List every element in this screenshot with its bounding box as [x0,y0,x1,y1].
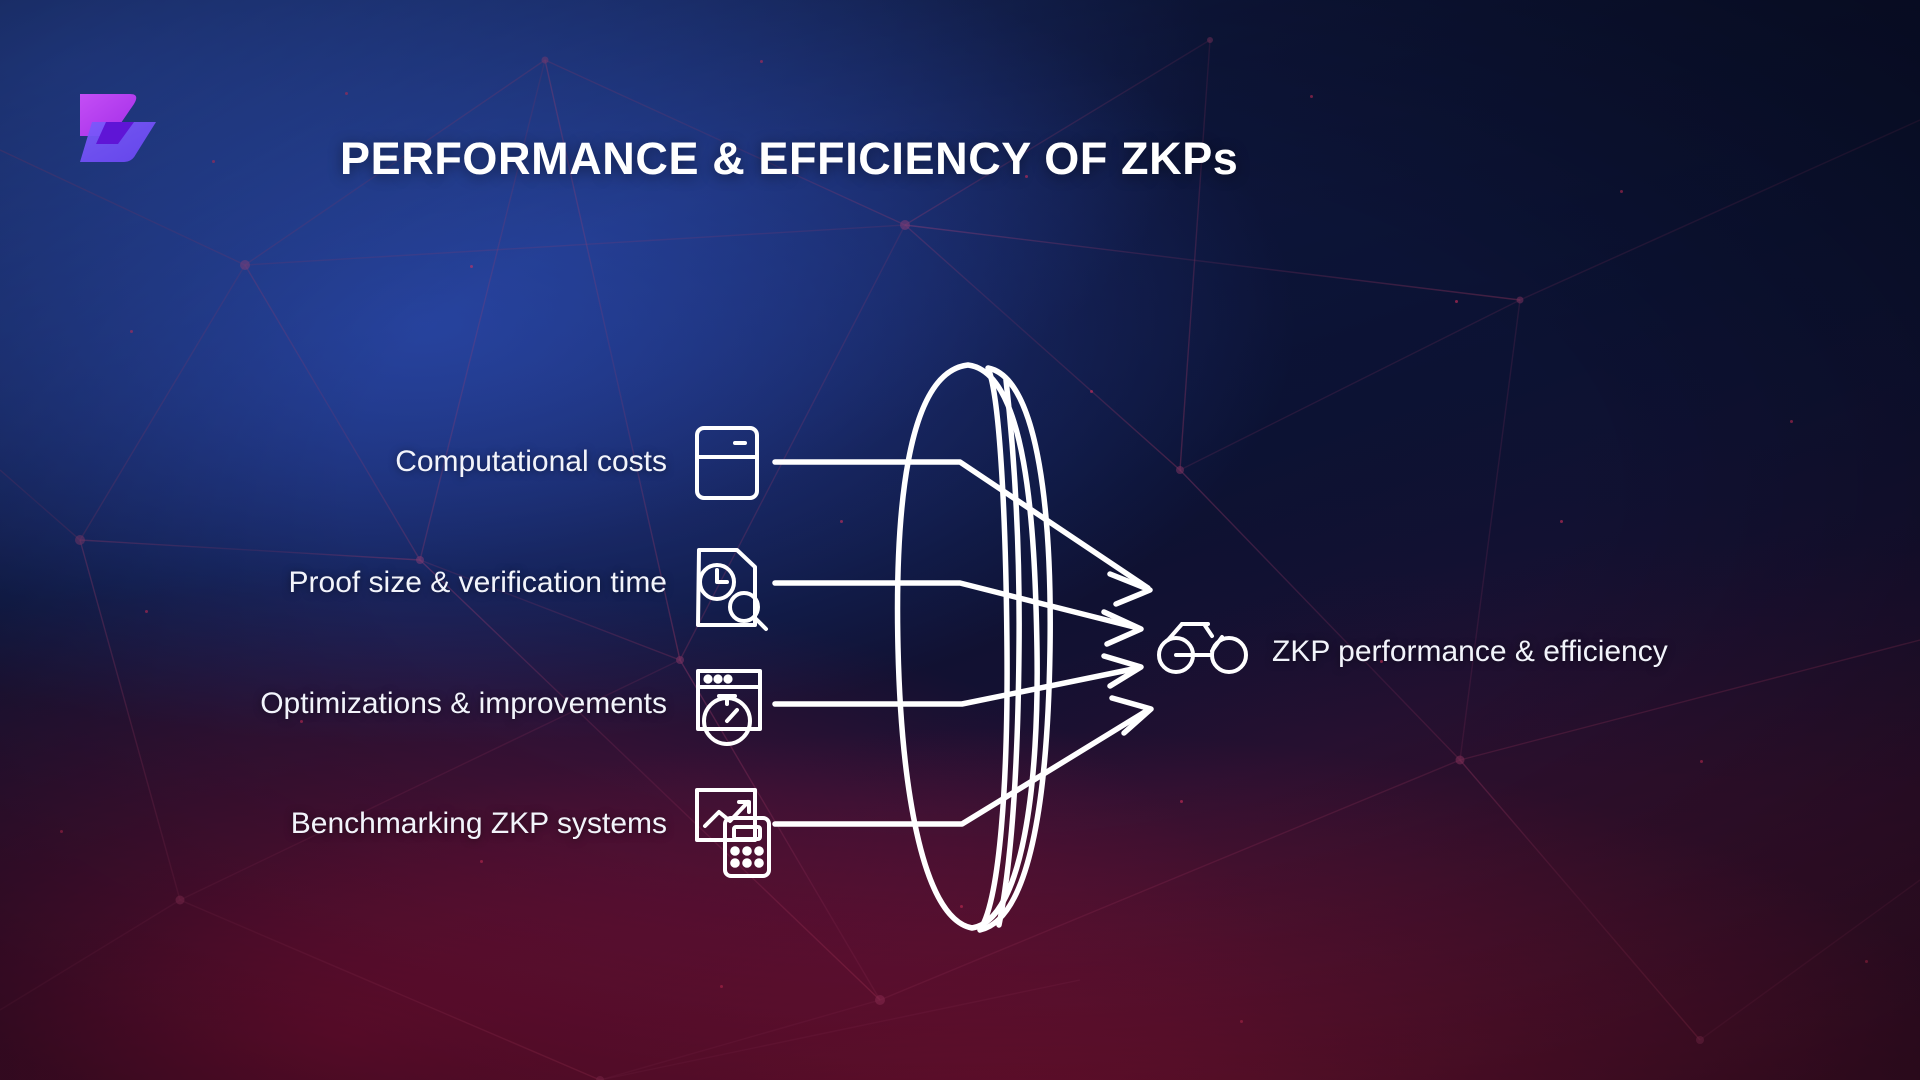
connector-line-1 [775,462,1148,588]
server-cabinet-icon [697,428,757,498]
input-label-4: Benchmarking ZKP systems [291,807,667,841]
connector-line-2 [775,583,1138,628]
connector-line-3 [775,668,1138,704]
browser-stopwatch-icon [698,671,760,744]
chart-calculator-icon [697,790,769,876]
input-label-2: Proof size & verification time [289,566,667,600]
connector-line-4 [775,710,1148,824]
input-label-1: Computational costs [395,445,667,479]
arrow-head-2 [1104,612,1141,644]
input-label-3: Optimizations & improvements [260,687,667,721]
converging-lens-diagram [0,0,1920,1080]
document-clock-search-icon [698,550,766,629]
lens-back-ellipse [898,365,1038,928]
slide-root: PERFORMANCE & EFFICIENCY OF ZKPs [0,0,1920,1080]
motorcycle-icon [1159,624,1246,672]
output-label: ZKP performance & efficiency [1272,635,1668,669]
